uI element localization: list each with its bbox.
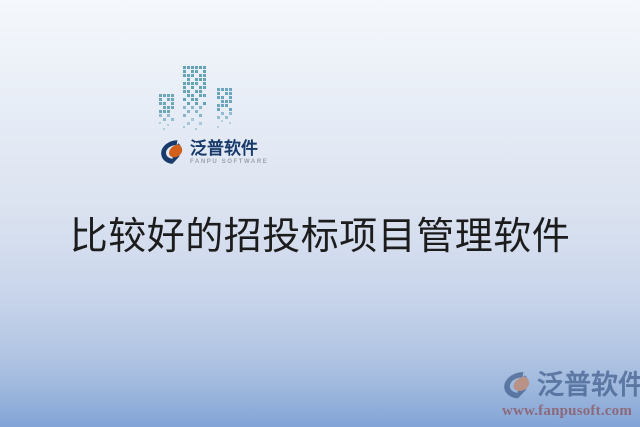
skyline-icon <box>155 60 259 134</box>
watermark-logo-icon <box>498 369 534 402</box>
pixel-skyline-graphic <box>155 60 259 134</box>
brand-name-cn: 泛普软件 <box>190 140 268 157</box>
watermark: 泛普软件 www.fanpusoft.com <box>498 366 638 424</box>
slide-canvas: 泛普软件 FANPU SOFTWARE 比较好的招投标项目管理软件 泛普软件 w… <box>0 0 640 427</box>
brand-name-en: FANPU SOFTWARE <box>190 159 268 165</box>
brand-text: 泛普软件 FANPU SOFTWARE <box>190 140 268 165</box>
fanpu-logo-icon <box>156 137 186 167</box>
watermark-url: www.fanpusoft.com <box>498 403 636 420</box>
watermark-name-cn: 泛普软件 <box>537 372 640 399</box>
watermark-logo-row: 泛普软件 <box>498 366 638 404</box>
page-title: 比较好的招投标项目管理软件 <box>0 214 640 260</box>
brand-logo: 泛普软件 FANPU SOFTWARE <box>156 134 258 170</box>
